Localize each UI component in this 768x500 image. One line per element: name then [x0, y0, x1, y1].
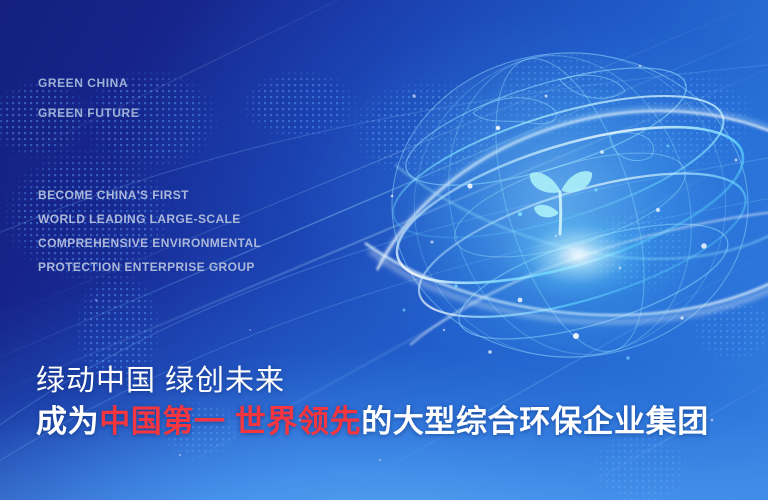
headline-prefix: 成为	[36, 404, 99, 439]
headline-suffix: 的大型综合环保企业集团	[361, 404, 709, 439]
headline-line-1: 绿动中国 绿创未来	[36, 362, 709, 401]
green-sprout-icon	[520, 160, 598, 240]
mission-line-1: BECOME CHINA'S FIRST	[38, 183, 261, 207]
tagline-block: GREEN CHINA GREEN FUTURE	[38, 68, 139, 128]
headline-highlight: 中国第一 世界领先	[99, 404, 361, 439]
headline-line-2: 成为中国第一 世界领先的大型综合环保企业集团	[36, 401, 709, 442]
headline-block: 绿动中国 绿创未来 成为中国第一 世界领先的大型综合环保企业集团	[36, 362, 709, 442]
mission-line-2: WORLD LEADING LARGE-SCALE	[38, 207, 261, 231]
hero-banner: GREEN CHINA GREEN FUTURE BECOME CHINA'S …	[0, 0, 768, 500]
tagline-line-1: GREEN CHINA	[38, 68, 139, 98]
tagline-line-2: GREEN FUTURE	[38, 98, 139, 128]
mission-line-3: COMPREHENSIVE ENVIRONMENTAL	[38, 231, 261, 255]
mission-line-4: PROTECTION ENTERPRISE GROUP	[38, 255, 261, 279]
mission-block: BECOME CHINA'S FIRST WORLD LEADING LARGE…	[38, 183, 261, 279]
